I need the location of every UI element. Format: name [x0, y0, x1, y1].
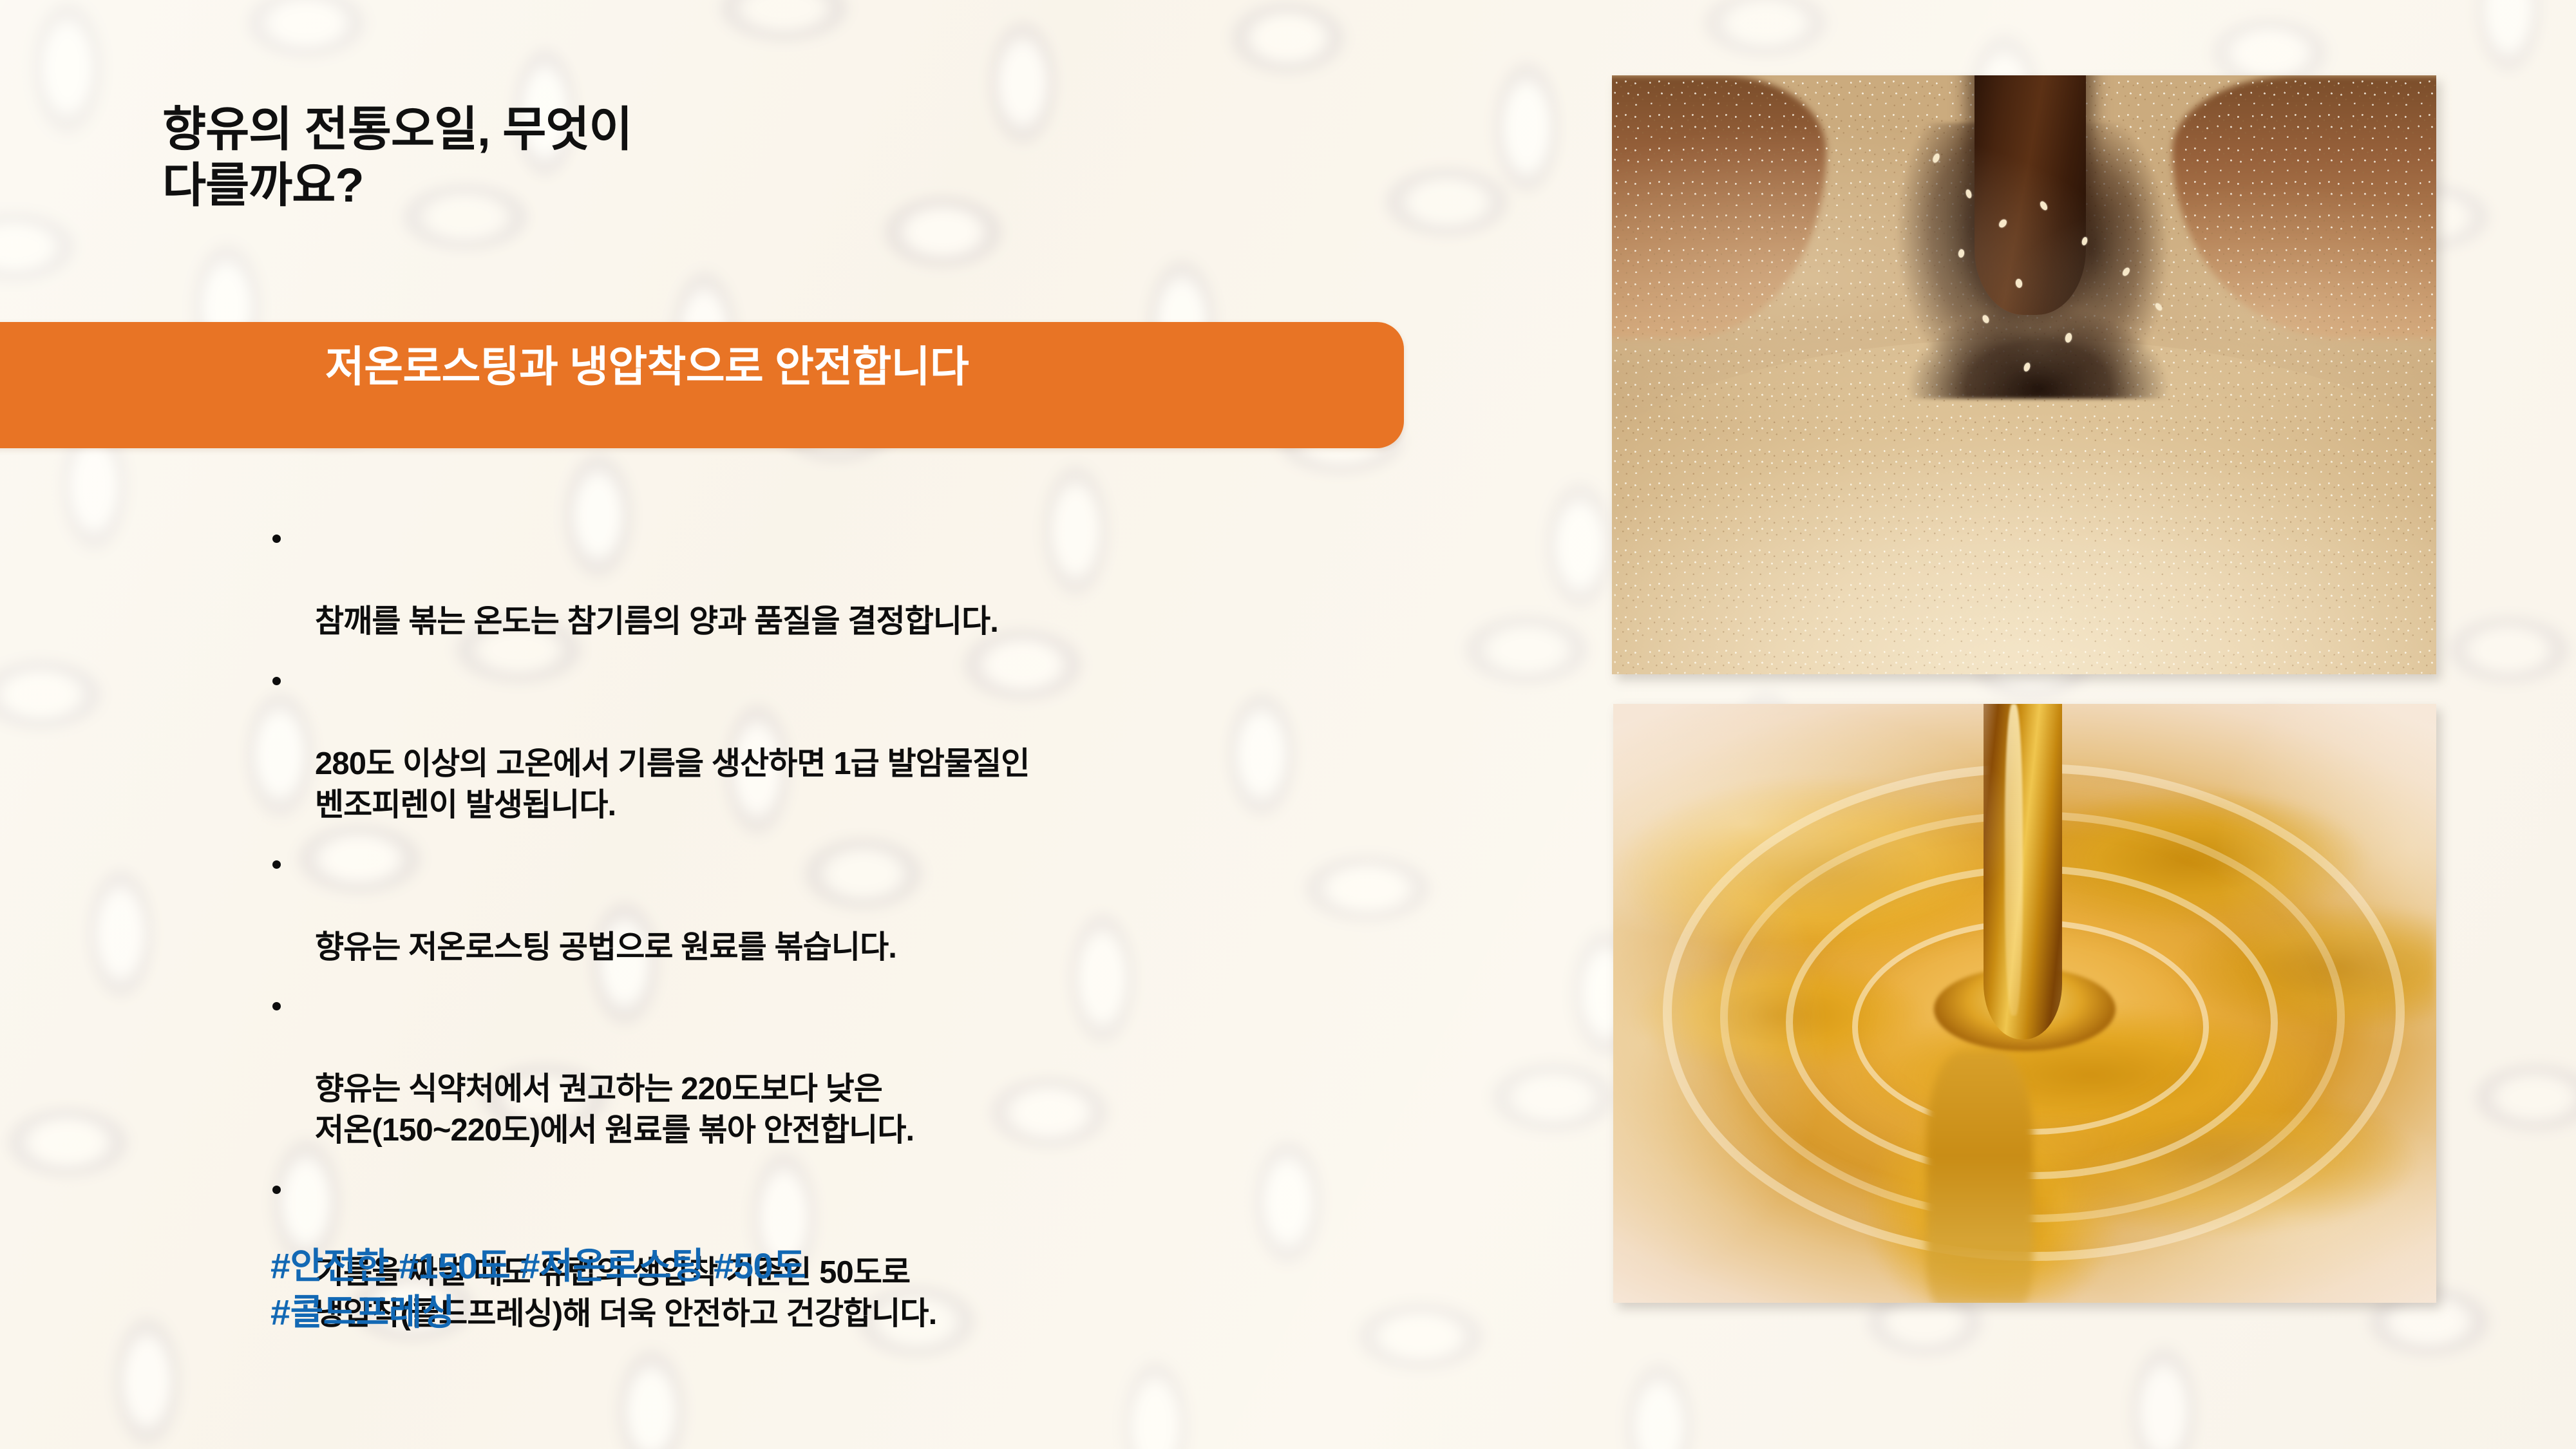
- bullet-dot-icon: [272, 677, 281, 685]
- oil-photo-glaze: [1613, 704, 2436, 1303]
- sesame-seeds-photo-content: [1612, 75, 2436, 674]
- slide-canvas: 향유의 전통오일, 무엇이 다를까요? 저온로스팅과 냉압착으로 안전합니다 참…: [0, 0, 2576, 1449]
- bullet-item: 280도 이상의 고온에서 기름을 생산하면 1급 발암물질인 벤조피렌이 발생…: [267, 661, 1523, 826]
- bullet-text: 280도 이상의 고온에서 기름을 생산하면 1급 발암물질인 벤조피렌이 발생…: [315, 746, 1029, 822]
- bullet-item: 참깨를 볶는 온도는 참기름의 양과 품질을 결정합니다.: [267, 518, 1523, 643]
- body-bullet-list: 참깨를 볶는 온도는 참기름의 양과 품질을 결정합니다. 280도 이상의 고…: [267, 518, 1523, 1352]
- page-title: 향유의 전통오일, 무엇이 다를까요?: [162, 102, 1128, 213]
- sesame-oil-photo-content: [1613, 704, 2436, 1303]
- bullet-text: 향유는 저온로스팅 공법으로 원료를 볶습니다.: [315, 930, 896, 965]
- bullet-text: 향유는 식약처에서 권고하는 220도보다 낮은 저온(150~220도)에서 …: [315, 1072, 914, 1148]
- seed-photo-sheen: [1612, 75, 2436, 674]
- bullet-dot-icon: [272, 860, 281, 869]
- bullet-dot-icon: [272, 535, 281, 543]
- bullet-dot-icon: [272, 1002, 281, 1010]
- sesame-seeds-photo: [1612, 75, 2436, 674]
- bullet-item: 향유는 식약처에서 권고하는 220도보다 낮은 저온(150~220도)에서 …: [267, 986, 1523, 1151]
- bullet-dot-icon: [272, 1186, 281, 1194]
- bullet-item: 향유는 저온로스팅 공법으로 원료를 볶습니다.: [267, 844, 1523, 968]
- highlight-banner-label: 저온로스팅과 냉압착으로 안전합니다: [325, 332, 969, 394]
- sesame-oil-photo: [1613, 704, 2436, 1303]
- bullet-text: 참깨를 볶는 온도는 참기름의 양과 품질을 결정합니다.: [315, 604, 998, 639]
- hashtag-list: #안전한 #150도 #저온로스팅 #50도 #콜드프레싱: [270, 1243, 1365, 1335]
